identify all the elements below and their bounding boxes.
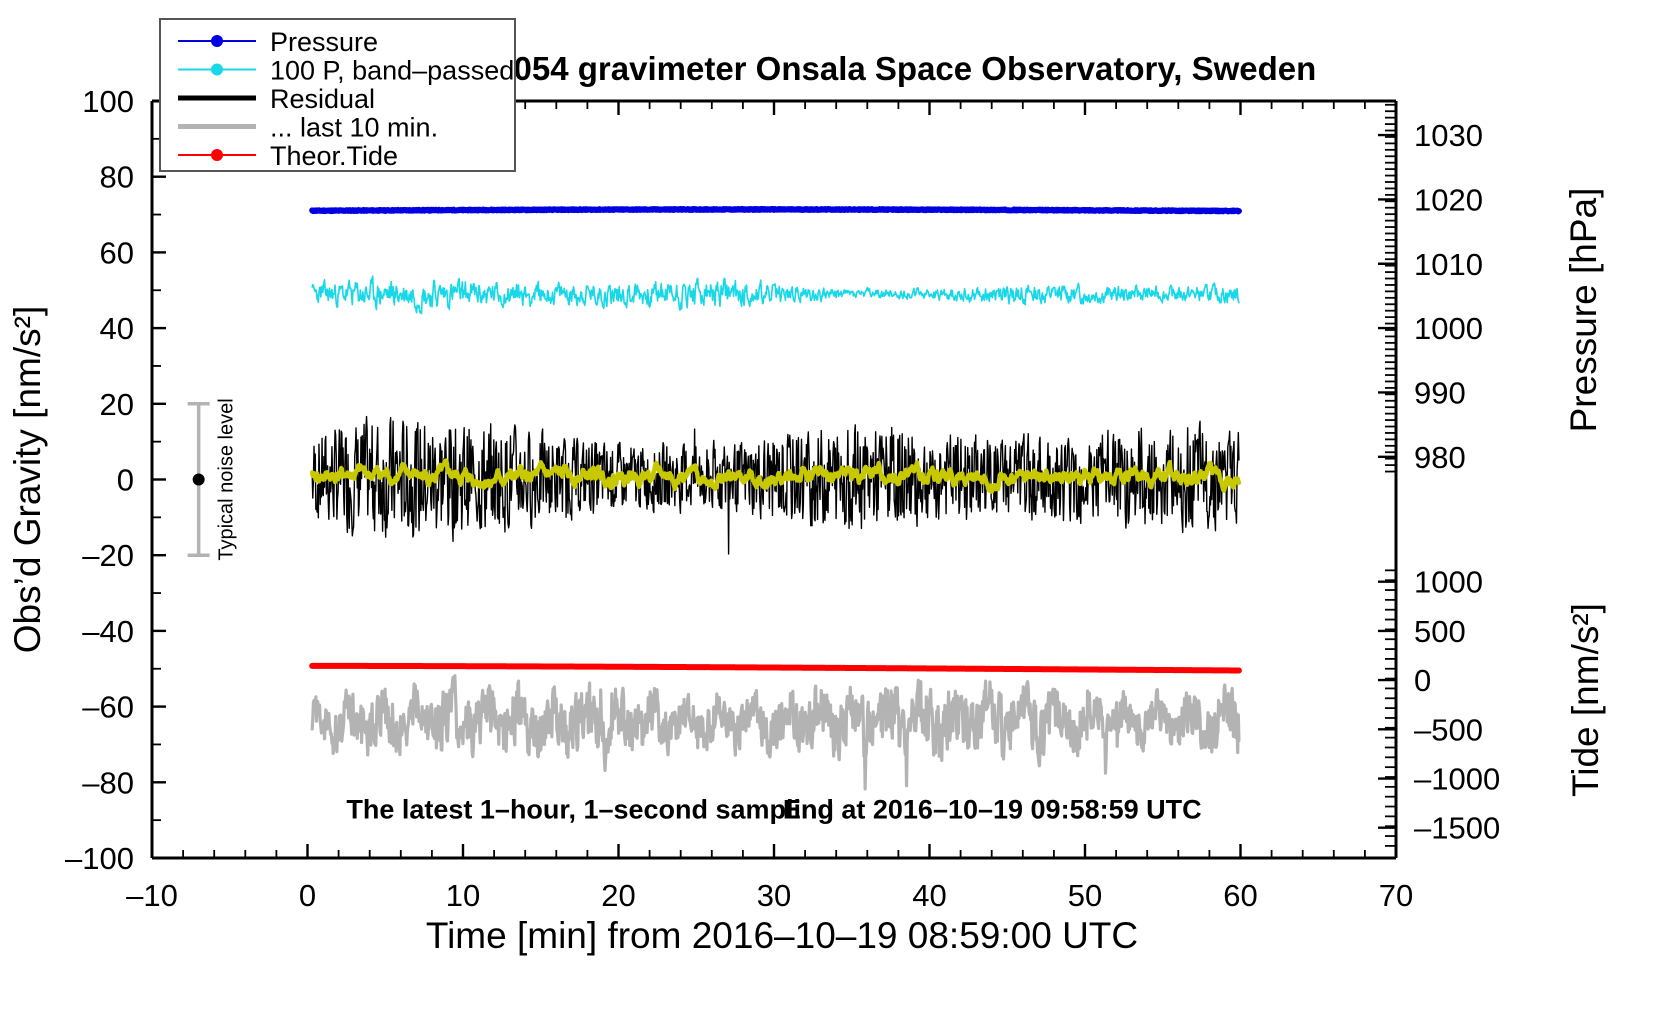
pressure-tick-label: 990 bbox=[1414, 375, 1466, 410]
series-theor-tide bbox=[312, 666, 1239, 671]
sampling-note: The latest 1–hour, 1–second sampling bbox=[346, 794, 834, 824]
y-tick-label: 20 bbox=[100, 387, 134, 422]
x-axis-title: Time [min] from 2016–10–19 08:59:00 UTC bbox=[426, 915, 1138, 956]
plot-canvas: –10010203040506070–100–80–60–40–20020406… bbox=[0, 0, 1660, 1020]
x-tick-label: 10 bbox=[446, 878, 480, 913]
x-tick-label: 30 bbox=[757, 878, 791, 913]
series-group bbox=[312, 209, 1239, 789]
pressure-tick-label: 1030 bbox=[1414, 118, 1483, 153]
legend-label: Theor.Tide bbox=[270, 141, 398, 171]
legend: Pressure100 P, band–passedResidual... la… bbox=[160, 19, 515, 171]
x-tick-label: 0 bbox=[299, 878, 316, 913]
tide-tick-label: –500 bbox=[1414, 712, 1483, 747]
tide-tick-label: –1500 bbox=[1414, 811, 1500, 846]
noise-center-dot bbox=[193, 474, 205, 486]
series-100-p-band-passed bbox=[312, 276, 1239, 313]
series-pressure bbox=[312, 209, 1239, 211]
noise-label: Typical noise level bbox=[216, 398, 238, 560]
legend-label: ... last 10 min. bbox=[270, 113, 438, 143]
legend-label: 100 P, band–passed bbox=[270, 56, 514, 86]
series-last-10-min bbox=[312, 676, 1239, 789]
legend-label: Pressure bbox=[270, 27, 378, 57]
legend-label: Residual bbox=[270, 84, 375, 114]
y-tick-label: –100 bbox=[65, 841, 134, 876]
y-tick-label: 60 bbox=[100, 235, 134, 270]
end-time-note: End at 2016–10–19 09:58:59 UTC bbox=[783, 794, 1202, 824]
pressure-tick-label: 1010 bbox=[1414, 247, 1483, 282]
pressure-tick-label: 1020 bbox=[1414, 182, 1483, 217]
x-tick-label: 70 bbox=[1379, 878, 1413, 913]
pressure-axis-title: Pressure [hPa] bbox=[1563, 188, 1604, 433]
plot-title: SCG_054 gravimeter Onsala Space Observat… bbox=[424, 50, 1317, 87]
y-tick-label: –20 bbox=[82, 538, 134, 573]
legend-marker-dot bbox=[211, 35, 223, 47]
x-tick-label: 40 bbox=[912, 878, 946, 913]
y-tick-label: 0 bbox=[117, 463, 134, 498]
tide-tick-label: 500 bbox=[1414, 614, 1466, 649]
tide-tick-label: –1000 bbox=[1414, 762, 1500, 797]
legend-marker-dot bbox=[211, 149, 223, 161]
x-tick-label: –10 bbox=[126, 878, 178, 913]
y-tick-label: –40 bbox=[82, 614, 134, 649]
typical-noise-indicator: Typical noise level bbox=[188, 398, 238, 560]
y-tick-label: 100 bbox=[82, 84, 134, 119]
x-tick-label: 60 bbox=[1223, 878, 1257, 913]
y-tick-label: 80 bbox=[100, 160, 134, 195]
y-tick-label: 40 bbox=[100, 311, 134, 346]
pressure-tick-label: 1000 bbox=[1414, 311, 1483, 346]
pressure-tick-label: 980 bbox=[1414, 440, 1466, 475]
tide-tick-label: 0 bbox=[1414, 663, 1431, 698]
x-tick-label: 20 bbox=[601, 878, 635, 913]
y-tick-label: –60 bbox=[82, 690, 134, 725]
tide-tick-label: 1000 bbox=[1414, 565, 1483, 600]
tide-axis-title: Tide [nm/s²] bbox=[1565, 603, 1606, 797]
gravimeter-plot: –10010203040506070–100–80–60–40–20020406… bbox=[0, 0, 1660, 1020]
y-tick-label: –80 bbox=[82, 765, 134, 800]
legend-marker-dot bbox=[211, 64, 223, 76]
y-axis-title: Obs’d Gravity [nm/s²] bbox=[7, 306, 48, 653]
x-tick-label: 50 bbox=[1068, 878, 1102, 913]
